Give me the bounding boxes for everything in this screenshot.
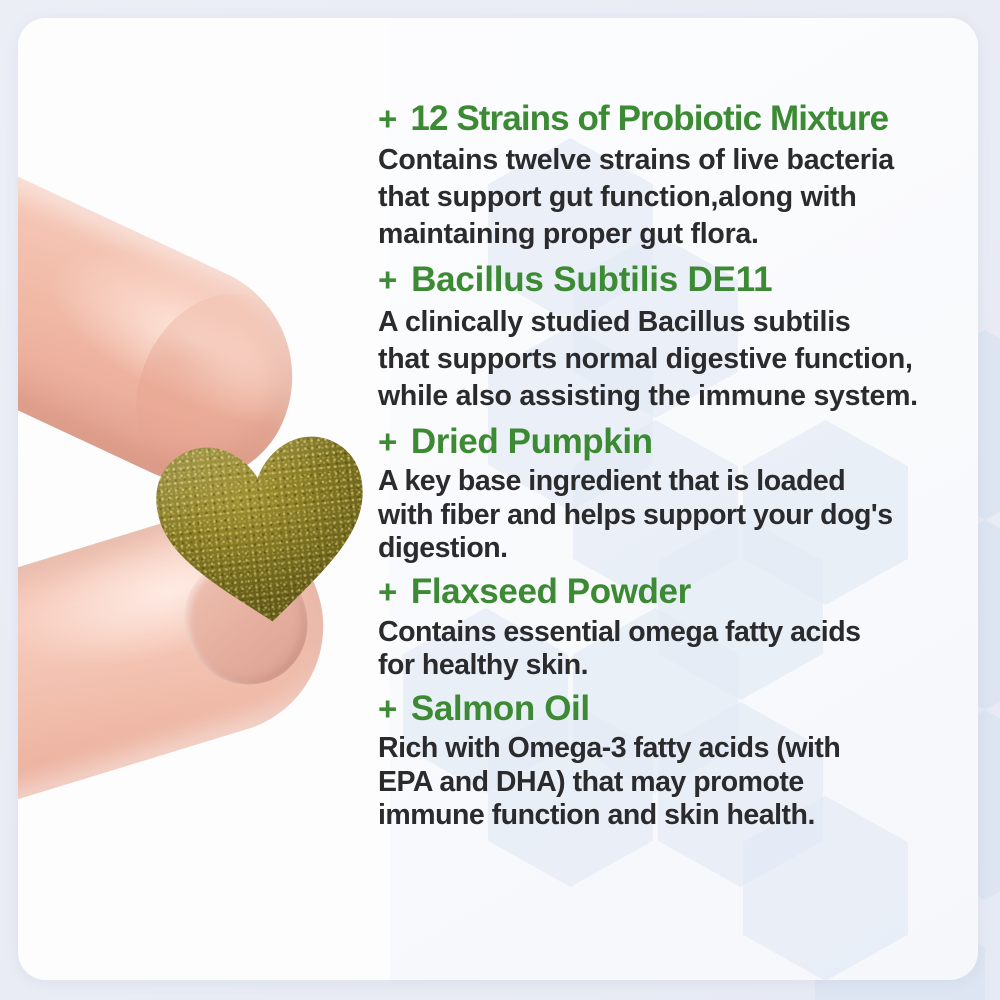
- ingredient-item: + Bacillus Subtilis DE11 A clinically st…: [378, 259, 978, 414]
- ingredient-heading: + 12 Strains of Probiotic Mixture: [378, 98, 978, 139]
- infographic-page: + 12 Strains of Probiotic Mixture Contai…: [0, 0, 1000, 1000]
- ingredient-heading: + Flaxseed Powder: [378, 571, 978, 612]
- ingredient-description: Rich with Omega-3 fatty acids (with EPA …: [378, 732, 978, 832]
- description-line: for healthy skin.: [378, 649, 978, 682]
- plus-icon: +: [378, 423, 397, 462]
- description-line: Contains twelve strains of live bacteria: [378, 142, 978, 179]
- description-line: immune function and skin health.: [378, 799, 978, 832]
- ingredient-description: A clinically studied Bacillus subtilis t…: [378, 304, 978, 415]
- description-line: while also assisting the immune system.: [378, 378, 978, 415]
- description-line: EPA and DHA) that may promote: [378, 766, 978, 799]
- description-line: maintaining proper gut flora.: [378, 216, 978, 253]
- description-line: with fiber and helps support your dog's: [378, 499, 978, 532]
- ingredient-heading: + Salmon Oil: [378, 688, 978, 729]
- treat-sheen: [147, 425, 379, 632]
- ingredient-item: + Flaxseed Powder Contains essential ome…: [378, 571, 978, 682]
- ingredient-list: + 12 Strains of Probiotic Mixture Contai…: [378, 18, 978, 980]
- ingredient-description: Contains twelve strains of live bacteria…: [378, 142, 978, 253]
- description-line: Rich with Omega-3 fatty acids (with: [378, 732, 978, 765]
- description-line: digestion.: [378, 532, 978, 565]
- ingredient-item: + Salmon Oil Rich with Omega-3 fatty aci…: [378, 688, 978, 832]
- ingredient-heading: + Bacillus Subtilis DE11: [378, 259, 978, 300]
- ingredient-title: Dried Pumpkin: [411, 421, 653, 462]
- plus-icon: +: [378, 690, 397, 729]
- ingredient-item: + Dried Pumpkin A key base ingredient th…: [378, 421, 978, 565]
- description-line: that support gut function,along with: [378, 179, 978, 216]
- content-card: + 12 Strains of Probiotic Mixture Contai…: [18, 18, 978, 980]
- ingredient-title: Bacillus Subtilis DE11: [411, 259, 772, 300]
- description-line: Contains essential omega fatty acids: [378, 616, 978, 649]
- ingredient-title: Flaxseed Powder: [411, 571, 691, 612]
- plus-icon: +: [378, 573, 397, 612]
- description-line: A key base ingredient that is loaded: [378, 465, 978, 498]
- plus-icon: +: [378, 261, 397, 300]
- description-line: A clinically studied Bacillus subtilis: [378, 304, 978, 341]
- ingredient-item: + 12 Strains of Probiotic Mixture Contai…: [378, 98, 978, 253]
- ingredient-heading: + Dried Pumpkin: [378, 421, 978, 462]
- ingredient-description: A key base ingredient that is loaded wit…: [378, 465, 978, 565]
- description-line: that supports normal digestive function,: [378, 341, 978, 378]
- product-photo: [18, 18, 390, 980]
- ingredient-title: Salmon Oil: [411, 688, 590, 729]
- ingredient-title: 12 Strains of Probiotic Mixture: [410, 98, 888, 139]
- heart-treat: [147, 425, 379, 632]
- plus-icon: +: [378, 100, 396, 139]
- ingredient-description: Contains essential omega fatty acids for…: [378, 616, 978, 683]
